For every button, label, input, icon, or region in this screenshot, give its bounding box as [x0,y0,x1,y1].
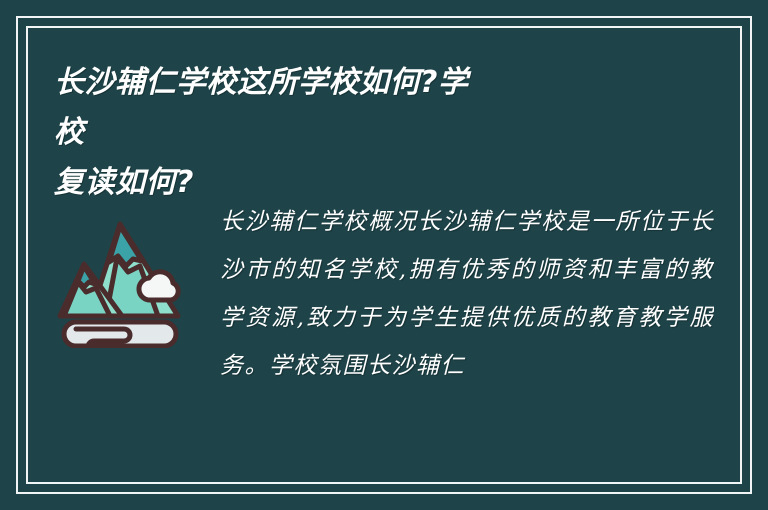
mountain-landscape-icon [54,212,190,348]
illustration-container [54,198,204,348]
article-body-text: 长沙辅仁学校概况长沙辅仁学校是一所位于长沙市的知名学校,拥有优秀的师资和丰富的教… [204,198,714,390]
title-block: 长沙辅仁学校这所学校如何?学校 复读如何? [54,58,474,208]
mountain-large-peak [109,226,142,266]
page-title: 长沙辅仁学校这所学校如何?学校 复读如何? [54,58,474,208]
content-row: 长沙辅仁学校概况长沙辅仁学校是一所位于长沙市的知名学校,拥有优秀的师资和丰富的教… [54,198,714,390]
article-card: 长沙辅仁学校这所学校如何?学校 复读如何? [0,0,768,510]
